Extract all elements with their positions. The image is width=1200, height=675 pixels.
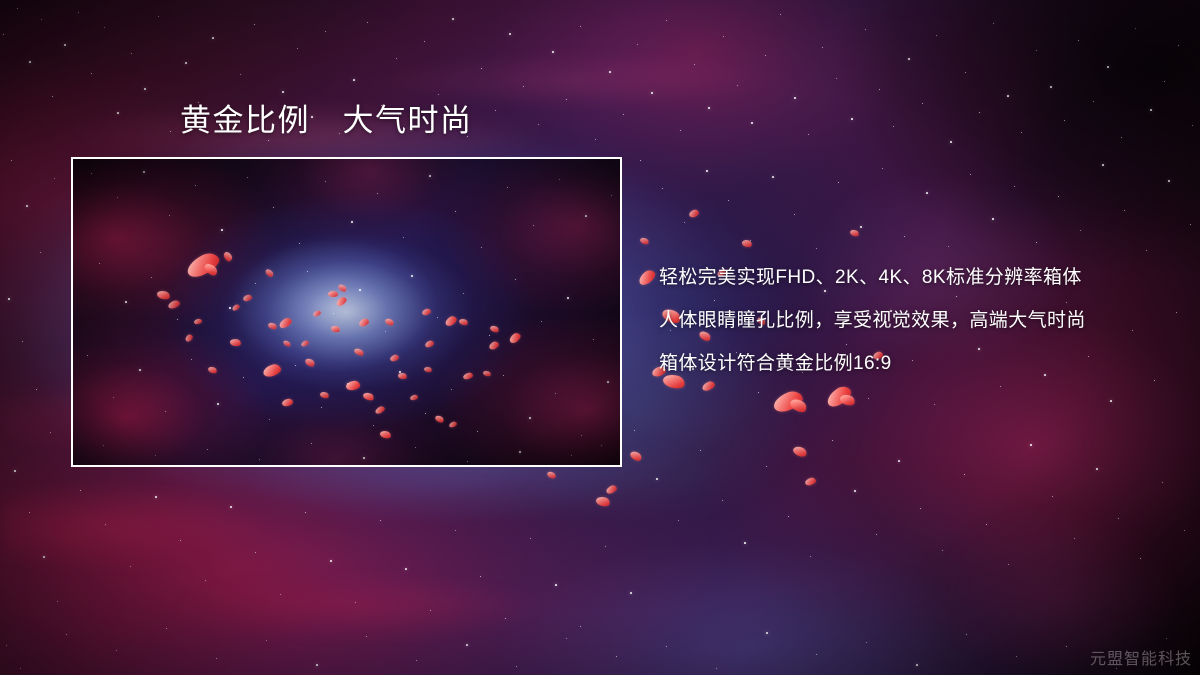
star [1178,45,1179,46]
star [78,12,79,13]
star [666,646,667,647]
flower-petal [741,239,753,249]
star [43,556,45,558]
star [1135,28,1136,29]
star [794,97,796,99]
flower-petal [605,484,618,495]
star [6,645,7,646]
star [280,594,281,595]
star [1021,132,1022,133]
body-text-line-2: 人体眼睛瞳孔比例，享受视觉效果，高端大气时尚 [659,299,1179,342]
star [1050,86,1052,88]
star [52,96,53,97]
star [166,628,167,629]
flower-petal [804,477,817,487]
star [1064,120,1065,121]
star [212,37,214,39]
star [934,404,935,405]
body-text-line-1: 轻松完美实现FHD、2K、4K、8K标准分辨率箱体 [659,256,1179,299]
star [355,602,356,603]
star [908,58,910,60]
star [538,124,539,125]
flower-petal [546,470,557,480]
star [1096,468,1098,470]
star [916,664,918,666]
flower-petal [629,449,643,462]
star [316,664,318,666]
star [1124,210,1125,211]
star [966,634,967,635]
star [609,71,611,73]
star [1146,250,1147,251]
star [816,654,817,655]
star [170,131,171,132]
star [722,500,723,501]
watermark-text: 元盟智能科技 [1090,645,1192,669]
body-text-line-3: 箱体设计符合黄金比例16:9 [659,342,1179,385]
star [1190,224,1191,225]
star [605,546,606,547]
star [117,112,119,114]
star [893,126,894,127]
star [11,160,12,161]
flower-petal [637,268,658,288]
star [616,656,617,657]
star [832,440,833,441]
star [131,53,132,54]
star [1166,638,1167,639]
star [452,18,454,20]
flower-petal [792,445,808,459]
star [130,566,131,567]
star [744,542,746,544]
star [3,34,4,35]
star [942,550,943,551]
star [723,36,724,37]
star [780,14,781,15]
star [282,91,284,93]
star [860,226,862,228]
star [737,85,738,86]
star [640,160,641,161]
star [64,44,66,46]
star [185,62,187,64]
star [879,89,880,90]
star [297,48,298,49]
star [20,668,21,669]
star [816,248,817,249]
star [104,27,105,28]
star [405,568,407,570]
star [268,140,269,141]
star [1052,496,1053,497]
star [898,460,900,462]
star [1184,530,1185,531]
star [1140,558,1141,559]
star [866,642,867,643]
star [1110,400,1112,402]
star [416,660,417,661]
flower-petal [688,209,700,219]
flower-petal [849,229,860,238]
star [926,192,928,194]
star [480,576,481,577]
star [230,506,232,508]
star [965,72,966,73]
star [1162,482,1163,483]
star [716,668,717,669]
star [8,298,10,300]
star [481,68,482,69]
star [964,474,965,475]
star [680,130,681,131]
star [158,16,159,17]
star [648,282,649,283]
star [254,24,255,25]
page-title: 黄金比例 大气时尚 [180,103,473,140]
star [438,94,439,95]
flower-petal [788,396,808,414]
star [29,61,31,63]
star [466,644,468,646]
star [706,170,708,172]
star [36,389,37,390]
star [662,188,663,189]
star [424,41,425,42]
star [41,19,42,20]
star [430,610,431,611]
star [1074,538,1075,539]
star [630,592,632,594]
star [772,176,774,178]
star [54,178,55,179]
star [950,141,952,143]
star [325,31,326,32]
star [936,35,937,36]
star [979,112,980,113]
framed-image-content [73,159,620,465]
star [14,470,16,472]
star [728,200,729,201]
star [523,86,524,87]
star [205,580,206,581]
star [1093,101,1094,102]
star [40,252,41,253]
star [580,626,581,627]
star [353,79,355,81]
star [766,466,767,467]
star [1030,444,1032,446]
star [455,530,456,531]
star [509,33,511,35]
star [57,601,58,602]
star [26,205,28,207]
star [1102,164,1104,166]
star [882,168,883,169]
star [1007,95,1009,97]
star [305,512,306,513]
star [836,78,837,79]
star [1036,50,1037,51]
star [865,29,866,30]
flower-petal [771,388,805,415]
star [970,174,971,175]
star [22,341,23,342]
star [751,122,753,124]
star [530,538,531,539]
star [992,218,994,220]
star [634,430,635,431]
star [666,20,667,21]
star [1078,40,1079,41]
star [1036,242,1037,243]
star [656,478,658,480]
star [255,552,256,553]
star [794,214,795,215]
star [750,240,751,241]
star [366,636,367,637]
star [396,58,397,59]
star [765,55,766,56]
flower-petal [824,383,854,410]
star [580,26,581,27]
star [694,64,695,65]
star [1016,656,1017,657]
star [552,51,554,53]
flower-petal [839,393,856,407]
flower-petal [595,495,611,508]
star [1168,180,1170,182]
star [216,658,217,659]
star [986,524,987,525]
star [758,392,759,393]
star [1008,564,1009,565]
star [505,618,506,619]
star [678,520,679,521]
star [808,134,809,135]
star [155,496,157,498]
star [180,540,181,541]
star [105,524,106,525]
star [788,516,789,517]
star [851,118,853,120]
star [623,114,624,115]
star [700,450,701,451]
star [1107,66,1109,68]
star [80,490,81,491]
star [380,520,381,521]
star [144,88,146,90]
star [1164,81,1165,82]
star [822,47,823,48]
framed-image-vignette [73,159,620,465]
star [240,74,241,75]
star [876,534,877,535]
body-text-block: 轻松完美实现FHD、2K、4K、8K标准分辨率箱体 人体眼睛瞳孔比例，享受视觉效… [659,256,1179,385]
flower-petal [639,236,650,245]
presentation-slide: 黄金比例 大气时尚 轻松完美实现FHD、2K、4K、8K标准分辨率箱体 人体眼睛… [0,0,1200,675]
star [838,182,839,183]
star [555,584,557,586]
star [17,8,18,9]
star [50,432,51,433]
star [1014,186,1015,187]
star [766,632,768,634]
star [91,73,92,74]
star [1066,646,1067,647]
star [904,236,905,237]
star [993,23,994,24]
star [495,110,496,111]
star [266,640,267,641]
star [29,512,30,513]
star [868,398,869,399]
star [1000,386,1001,387]
star [637,44,638,45]
star [116,650,117,651]
star [651,92,653,94]
star [1118,518,1119,519]
framed-image-panel [71,157,622,467]
star [1058,196,1059,197]
star [810,556,811,557]
star [1150,109,1152,111]
star [367,22,368,23]
star [854,490,856,492]
star [566,638,567,639]
star [1192,125,1193,126]
star [708,107,710,109]
star [1080,230,1081,231]
star [330,560,332,562]
star [922,103,923,104]
star [1121,137,1122,138]
star [920,508,921,509]
star [684,222,685,223]
star [948,246,949,247]
star [516,666,517,667]
star [595,139,596,140]
star [66,634,67,635]
star [566,99,567,100]
